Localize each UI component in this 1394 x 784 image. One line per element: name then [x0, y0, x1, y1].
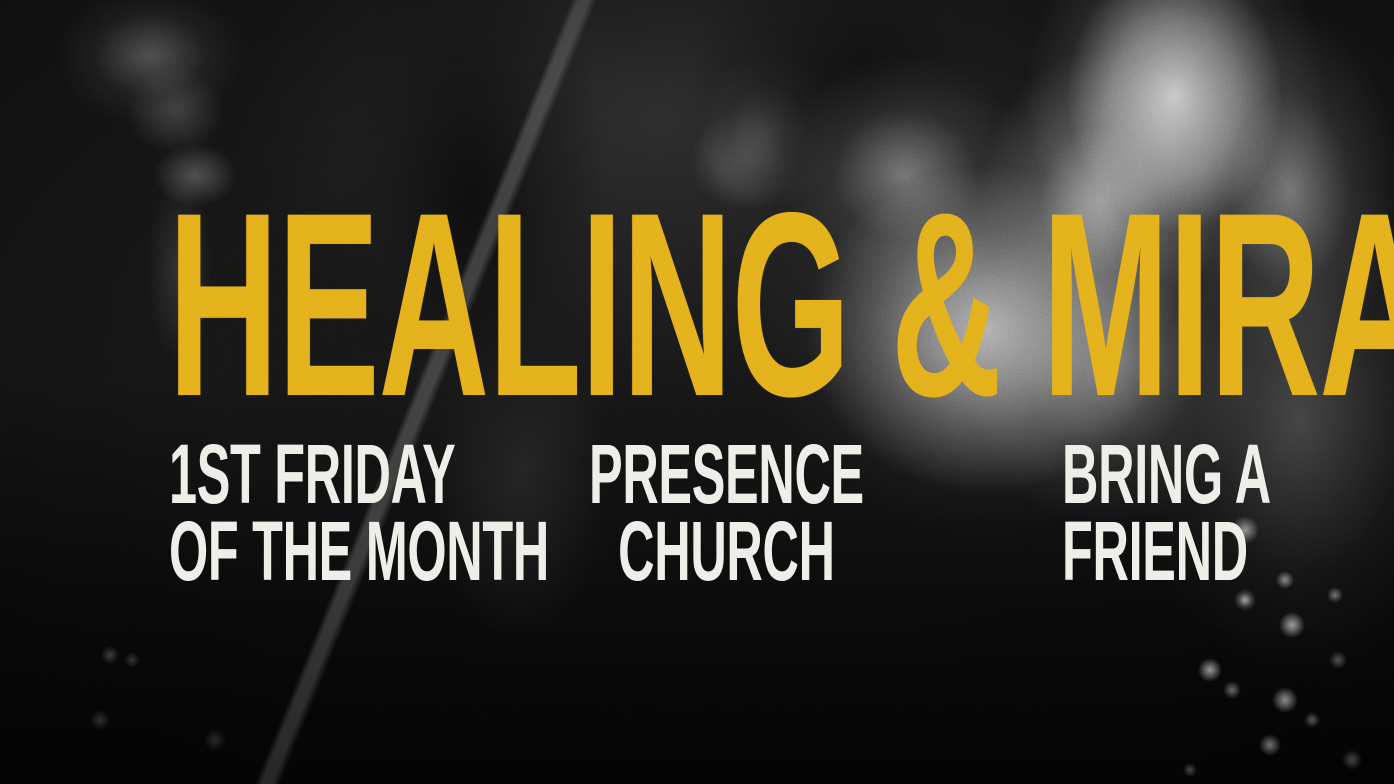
detail-venue: PRESENCE CHURCH: [589, 436, 864, 590]
detail-venue-line-1: PRESENCE: [589, 436, 864, 513]
detail-schedule-line-2: OF THE MONTH: [169, 513, 549, 590]
detail-invitation: BRING A FRIEND: [1062, 436, 1271, 590]
poster-content: HEALING & MIRACLE NIGHT 1ST FRIDAY OF TH…: [0, 0, 1394, 784]
detail-venue-line-2: CHURCH: [589, 513, 864, 590]
detail-schedule-line-1: 1ST FRIDAY: [169, 436, 549, 513]
event-poster: HEALING & MIRACLE NIGHT 1ST FRIDAY OF TH…: [0, 0, 1394, 784]
detail-invitation-line-1: BRING A: [1062, 436, 1271, 513]
detail-schedule: 1ST FRIDAY OF THE MONTH: [169, 436, 549, 590]
headline-title: HEALING & MIRACLE NIGHT: [168, 192, 1230, 417]
detail-invitation-line-2: FRIEND: [1062, 513, 1271, 590]
